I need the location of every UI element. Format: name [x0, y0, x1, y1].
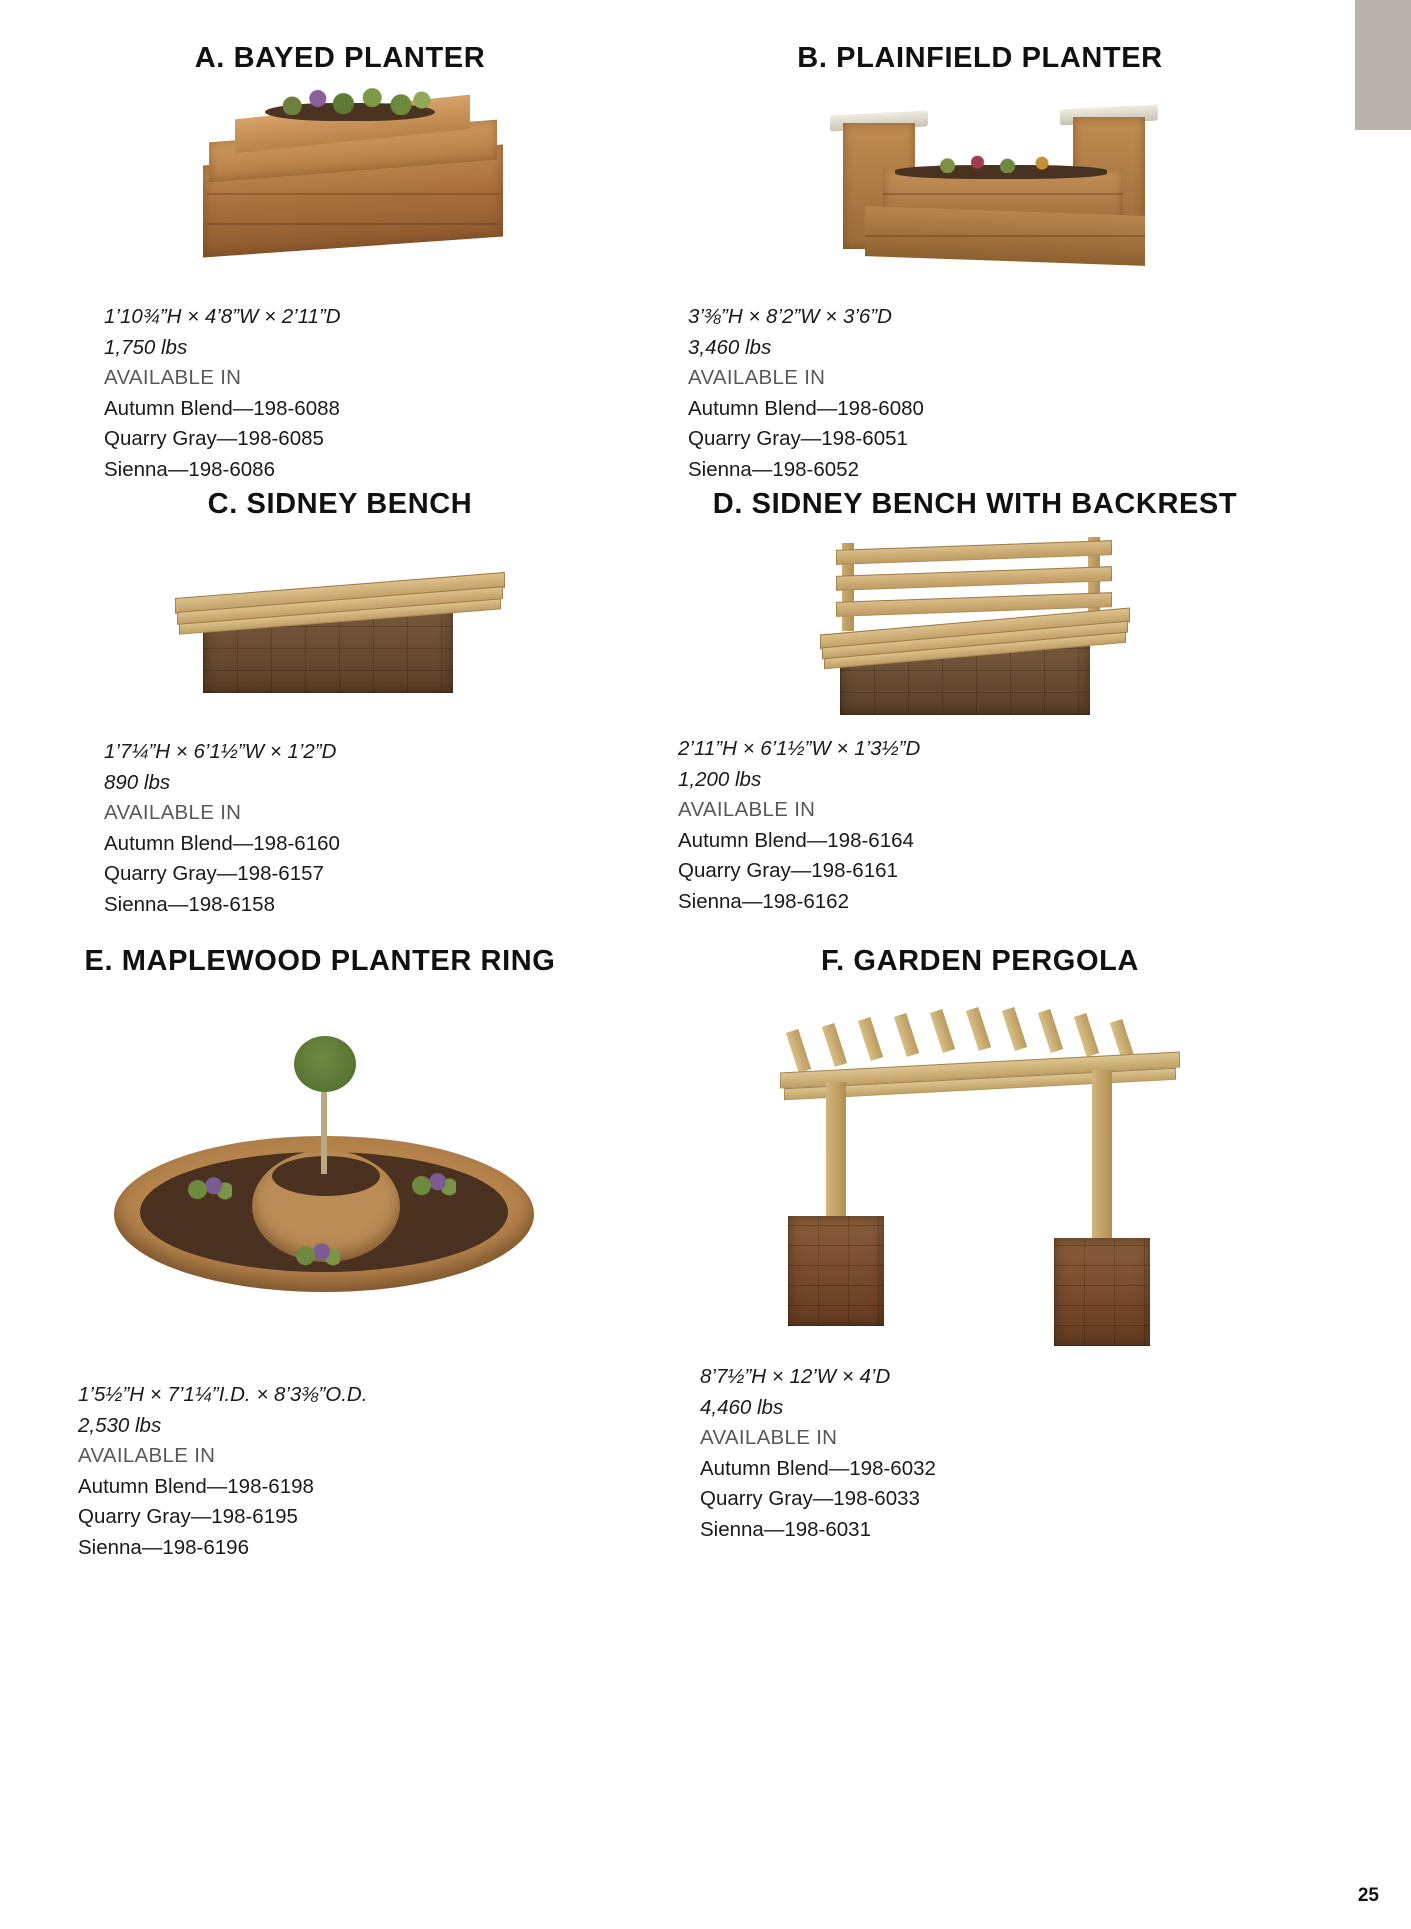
- spec-option-e-3: Sienna—198-6196: [78, 1533, 680, 1564]
- product-photo-c: [0, 543, 680, 713]
- product-card-e: E. MAPLEWOOD PLANTER RING 1’5½”H × 7’1¼”…: [0, 945, 680, 1563]
- page-edge-tab: [1355, 0, 1411, 130]
- product-title-f: F. GARDEN PERGOLA: [600, 945, 1360, 978]
- page-number: 25: [1358, 1885, 1379, 1907]
- spec-dimensions-e: 1’5½”H × 7’1¼”I.D. × 8’3⅜”O.D.: [78, 1380, 680, 1411]
- product-photo-a: [0, 93, 680, 278]
- spec-option-b-2: Quarry Gray—198-6051: [688, 424, 1360, 455]
- product-card-d: D. SIDNEY BENCH WITH BACKREST 2’11”H × 6…: [580, 488, 1370, 917]
- garden-pergola-illustration: [770, 1008, 1190, 1328]
- maplewood-planter-ring-illustration: [114, 1028, 554, 1328]
- spec-option-a-3: Sienna—198-6086: [104, 455, 680, 486]
- spec-option-a-2: Quarry Gray—198-6085: [104, 424, 680, 455]
- product-spec-d: 2’11”H × 6’1½”W × 1’3½”D 1,200 lbs AVAIL…: [678, 734, 1370, 917]
- product-photo-f: [600, 1008, 1360, 1338]
- product-title-b: B. PLAINFIELD PLANTER: [600, 42, 1360, 75]
- product-spec-e: 1’5½”H × 7’1¼”I.D. × 8’3⅜”O.D. 2,530 lbs…: [78, 1380, 680, 1563]
- spec-weight-b: 3,460 lbs: [688, 333, 1360, 364]
- spec-option-f-2: Quarry Gray—198-6033: [700, 1484, 1360, 1515]
- spec-option-d-3: Sienna—198-6162: [678, 887, 1370, 918]
- spec-option-e-2: Quarry Gray—198-6195: [78, 1502, 680, 1533]
- product-title-a: A. BAYED PLANTER: [0, 42, 680, 75]
- product-card-b: B. PLAINFIELD PLANTER 3’⅜”H × 8’2”W × 3’…: [600, 42, 1360, 485]
- spec-available-label-f: AVAILABLE IN: [700, 1423, 1360, 1454]
- spec-dimensions-b: 3’⅜”H × 8’2”W × 3’6”D: [688, 302, 1360, 333]
- product-card-a: A. BAYED PLANTER 1’10¾”H × 4’8”W × 2’11”…: [0, 42, 680, 485]
- spec-weight-f: 4,460 lbs: [700, 1393, 1360, 1424]
- spec-option-d-2: Quarry Gray—198-6161: [678, 856, 1370, 887]
- product-photo-b: [600, 93, 1360, 278]
- product-spec-a: 1’10¾”H × 4’8”W × 2’11”D 1,750 lbs AVAIL…: [104, 302, 680, 485]
- sidney-bench-backrest-illustration: [820, 537, 1130, 707]
- spec-option-f-3: Sienna—198-6031: [700, 1515, 1360, 1546]
- spec-available-label-e: AVAILABLE IN: [78, 1441, 680, 1472]
- spec-option-a-1: Autumn Blend—198-6088: [104, 394, 680, 425]
- sidney-bench-illustration: [175, 543, 505, 703]
- spec-option-e-1: Autumn Blend—198-6198: [78, 1472, 680, 1503]
- product-spec-b: 3’⅜”H × 8’2”W × 3’6”D 3,460 lbs AVAILABL…: [688, 302, 1360, 485]
- spec-weight-a: 1,750 lbs: [104, 333, 680, 364]
- product-title-c: C. SIDNEY BENCH: [0, 488, 680, 521]
- spec-available-label-a: AVAILABLE IN: [104, 363, 680, 394]
- product-photo-e: [0, 1028, 680, 1358]
- plainfield-planter-illustration: [825, 93, 1165, 273]
- spec-option-b-1: Autumn Blend—198-6080: [688, 394, 1360, 425]
- spec-option-b-3: Sienna—198-6052: [688, 455, 1360, 486]
- product-title-d: D. SIDNEY BENCH WITH BACKREST: [580, 488, 1370, 521]
- spec-weight-e: 2,530 lbs: [78, 1411, 680, 1442]
- spec-option-f-1: Autumn Blend—198-6032: [700, 1454, 1360, 1485]
- spec-available-label-d: AVAILABLE IN: [678, 795, 1370, 826]
- spec-available-label-b: AVAILABLE IN: [688, 363, 1360, 394]
- spec-dimensions-d: 2’11”H × 6’1½”W × 1’3½”D: [678, 734, 1370, 765]
- spec-dimensions-a: 1’10¾”H × 4’8”W × 2’11”D: [104, 302, 680, 333]
- catalog-page: A. BAYED PLANTER 1’10¾”H × 4’8”W × 2’11”…: [0, 0, 1411, 1929]
- product-spec-f: 8’7½”H × 12’W × 4’D 4,460 lbs AVAILABLE …: [700, 1362, 1360, 1545]
- product-card-c: C. SIDNEY BENCH 1’7¼”H × 6’1½”W × 1’2”D …: [0, 488, 680, 920]
- spec-option-d-1: Autumn Blend—198-6164: [678, 826, 1370, 857]
- spec-weight-d: 1,200 lbs: [678, 765, 1370, 796]
- product-title-e: E. MAPLEWOOD PLANTER RING: [0, 945, 680, 978]
- product-card-f: F. GARDEN PERGOLA: [600, 945, 1360, 1545]
- product-photo-d: [580, 537, 1370, 712]
- bayed-planter-illustration: [195, 93, 513, 268]
- spec-dimensions-f: 8’7½”H × 12’W × 4’D: [700, 1362, 1360, 1393]
